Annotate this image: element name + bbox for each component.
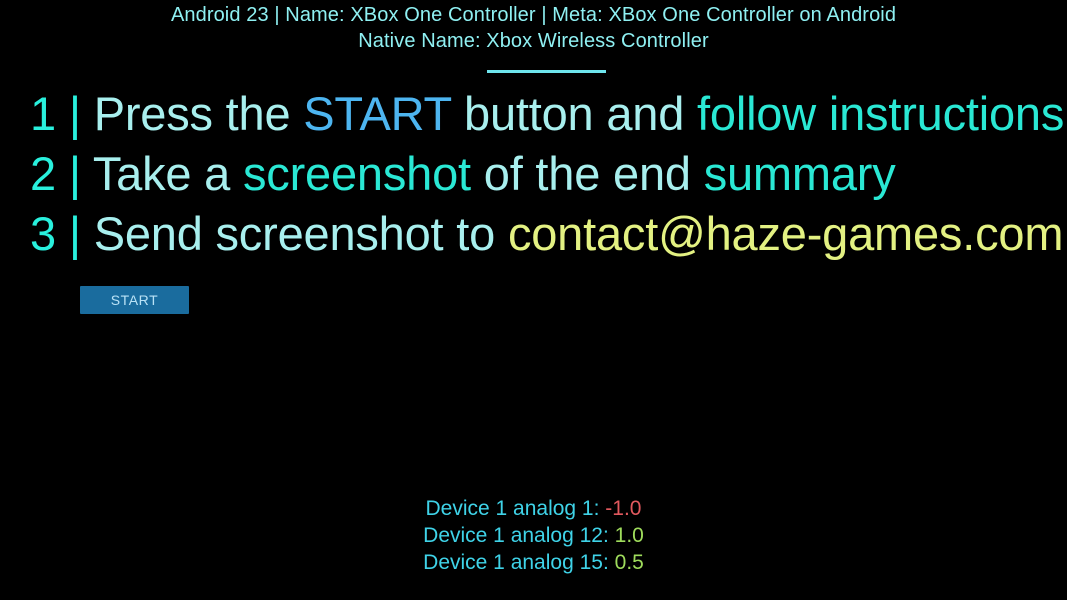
instructions-list: 1 | Press the START button and follow in… <box>30 84 1050 264</box>
analog-readout-row: Device 1 analog 1: -1.0 <box>0 495 1067 522</box>
instruction-step-3: 3 | Send screenshot to contact@haze-game… <box>30 204 1050 264</box>
step-1-text-mid: button and <box>451 87 697 140</box>
app-screen: Android 23 | Name: XBox One Controller |… <box>0 0 1067 600</box>
analog-value: -1.0 <box>605 497 641 520</box>
step-spacer-2b <box>81 147 93 200</box>
analog-label: Device 1 analog 1: <box>426 497 600 520</box>
device-info-header: Android 23 | Name: XBox One Controller |… <box>0 2 1067 54</box>
step-spacer-2 <box>56 147 69 200</box>
step-spacer-1 <box>56 87 69 140</box>
step-2-text-mid: of the end <box>471 147 704 200</box>
step-2-text-pre: Take a <box>93 147 243 200</box>
step-number-1: 1 <box>30 87 56 140</box>
step-2-summary-keyword: summary <box>704 147 896 200</box>
step-separator-1: | <box>69 87 81 140</box>
step-2-screenshot-keyword: screenshot <box>243 147 471 200</box>
step-spacer-1b <box>81 87 94 140</box>
contact-email-address: contact@haze-games.com <box>508 207 1063 260</box>
step-3-text-pre: Send screenshot to <box>94 207 508 260</box>
step-1-text-tail: follow instructions <box>697 87 1064 140</box>
step-separator-3: | <box>69 207 81 260</box>
analog-readout-row: Device 1 analog 15: 0.5 <box>0 549 1067 576</box>
step-1-start-keyword: START <box>303 87 451 140</box>
step-number-2: 2 <box>30 147 56 200</box>
step-1-text-pre: Press the <box>94 87 304 140</box>
step-spacer-3b <box>81 207 94 260</box>
instruction-step-2: 2 | Take a screenshot of the end summary <box>30 144 1050 204</box>
analog-readout-panel: Device 1 analog 1: -1.0 Device 1 analog … <box>0 495 1067 576</box>
analog-label: Device 1 analog 12: <box>423 524 609 547</box>
step-separator-2: | <box>69 147 81 200</box>
device-info-line-2: Native Name: Xbox Wireless Controller <box>0 28 1067 54</box>
analog-label: Device 1 analog 15: <box>423 551 609 574</box>
instruction-step-1: 1 | Press the START button and follow in… <box>30 84 1050 144</box>
horizontal-divider <box>487 70 606 73</box>
analog-readout-row: Device 1 analog 12: 1.0 <box>0 522 1067 549</box>
analog-value: 1.0 <box>615 524 644 547</box>
analog-value: 0.5 <box>615 551 644 574</box>
step-number-3: 3 <box>30 207 56 260</box>
device-info-line-1: Android 23 | Name: XBox One Controller |… <box>0 2 1067 28</box>
step-spacer-3 <box>56 207 69 260</box>
start-button[interactable]: START <box>80 286 189 314</box>
